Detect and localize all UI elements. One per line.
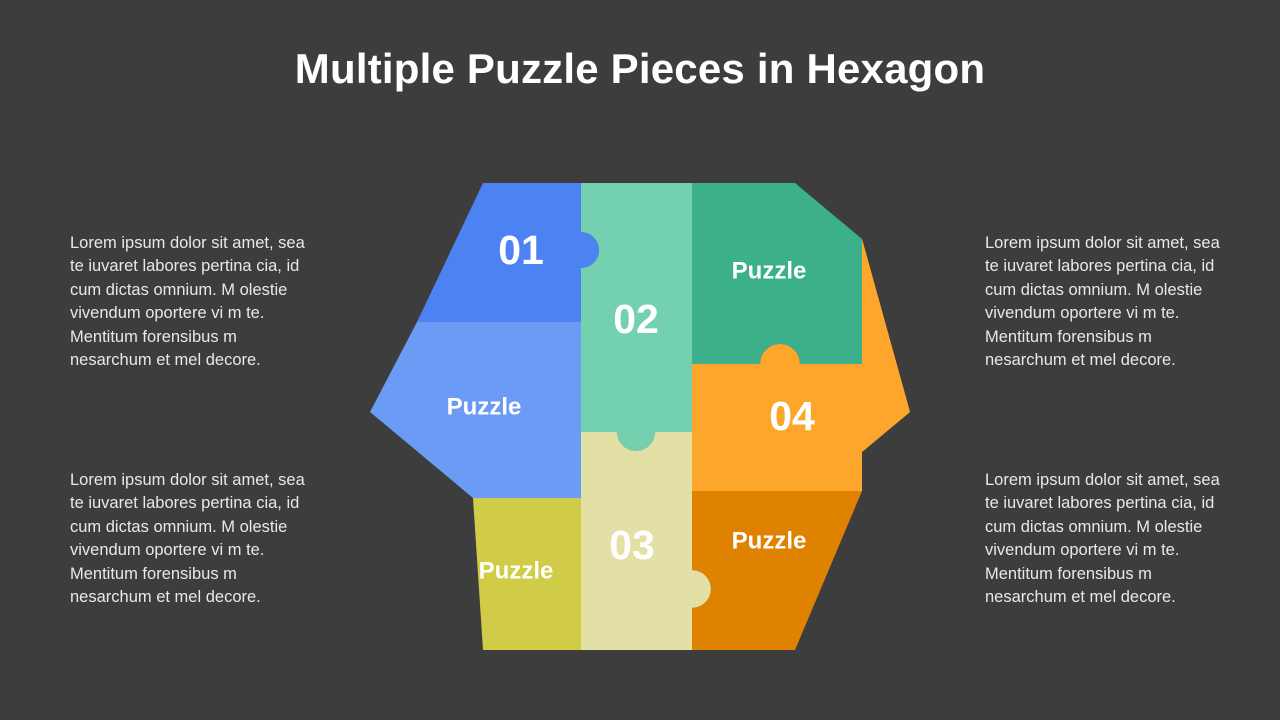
piece-03-label: 03: [609, 522, 655, 568]
puzzle-piece-01[interactable]: 01: [417, 183, 599, 322]
puzzle-piece-teal[interactable]: Puzzle: [692, 183, 862, 364]
piece-blue-2-label: Puzzle: [447, 393, 522, 420]
puzzle-piece-blue-2[interactable]: Puzzle: [370, 322, 581, 498]
puzzle-piece-03[interactable]: 03: [581, 432, 711, 650]
piece-02-label: 02: [613, 296, 659, 342]
puzzle-piece-yellow-2[interactable]: Puzzle: [473, 498, 581, 650]
piece-teal-label: Puzzle: [732, 257, 807, 284]
piece-01-label: 01: [498, 227, 544, 273]
piece-yellow-2-label: Puzzle: [479, 557, 554, 584]
puzzle-hexagon-diagram: 01 Puzzle Puzzle 02 03 Puzzle: [0, 0, 1280, 720]
piece-04-label: 04: [769, 393, 815, 439]
slide-canvas: Multiple Puzzle Pieces in Hexagon Lorem …: [0, 0, 1280, 720]
puzzle-piece-orange-2[interactable]: Puzzle: [692, 491, 862, 650]
piece-orange-2-label: Puzzle: [732, 527, 807, 554]
piece-orange-2-shape[interactable]: [692, 491, 862, 650]
puzzle-piece-02[interactable]: 02: [581, 183, 692, 451]
